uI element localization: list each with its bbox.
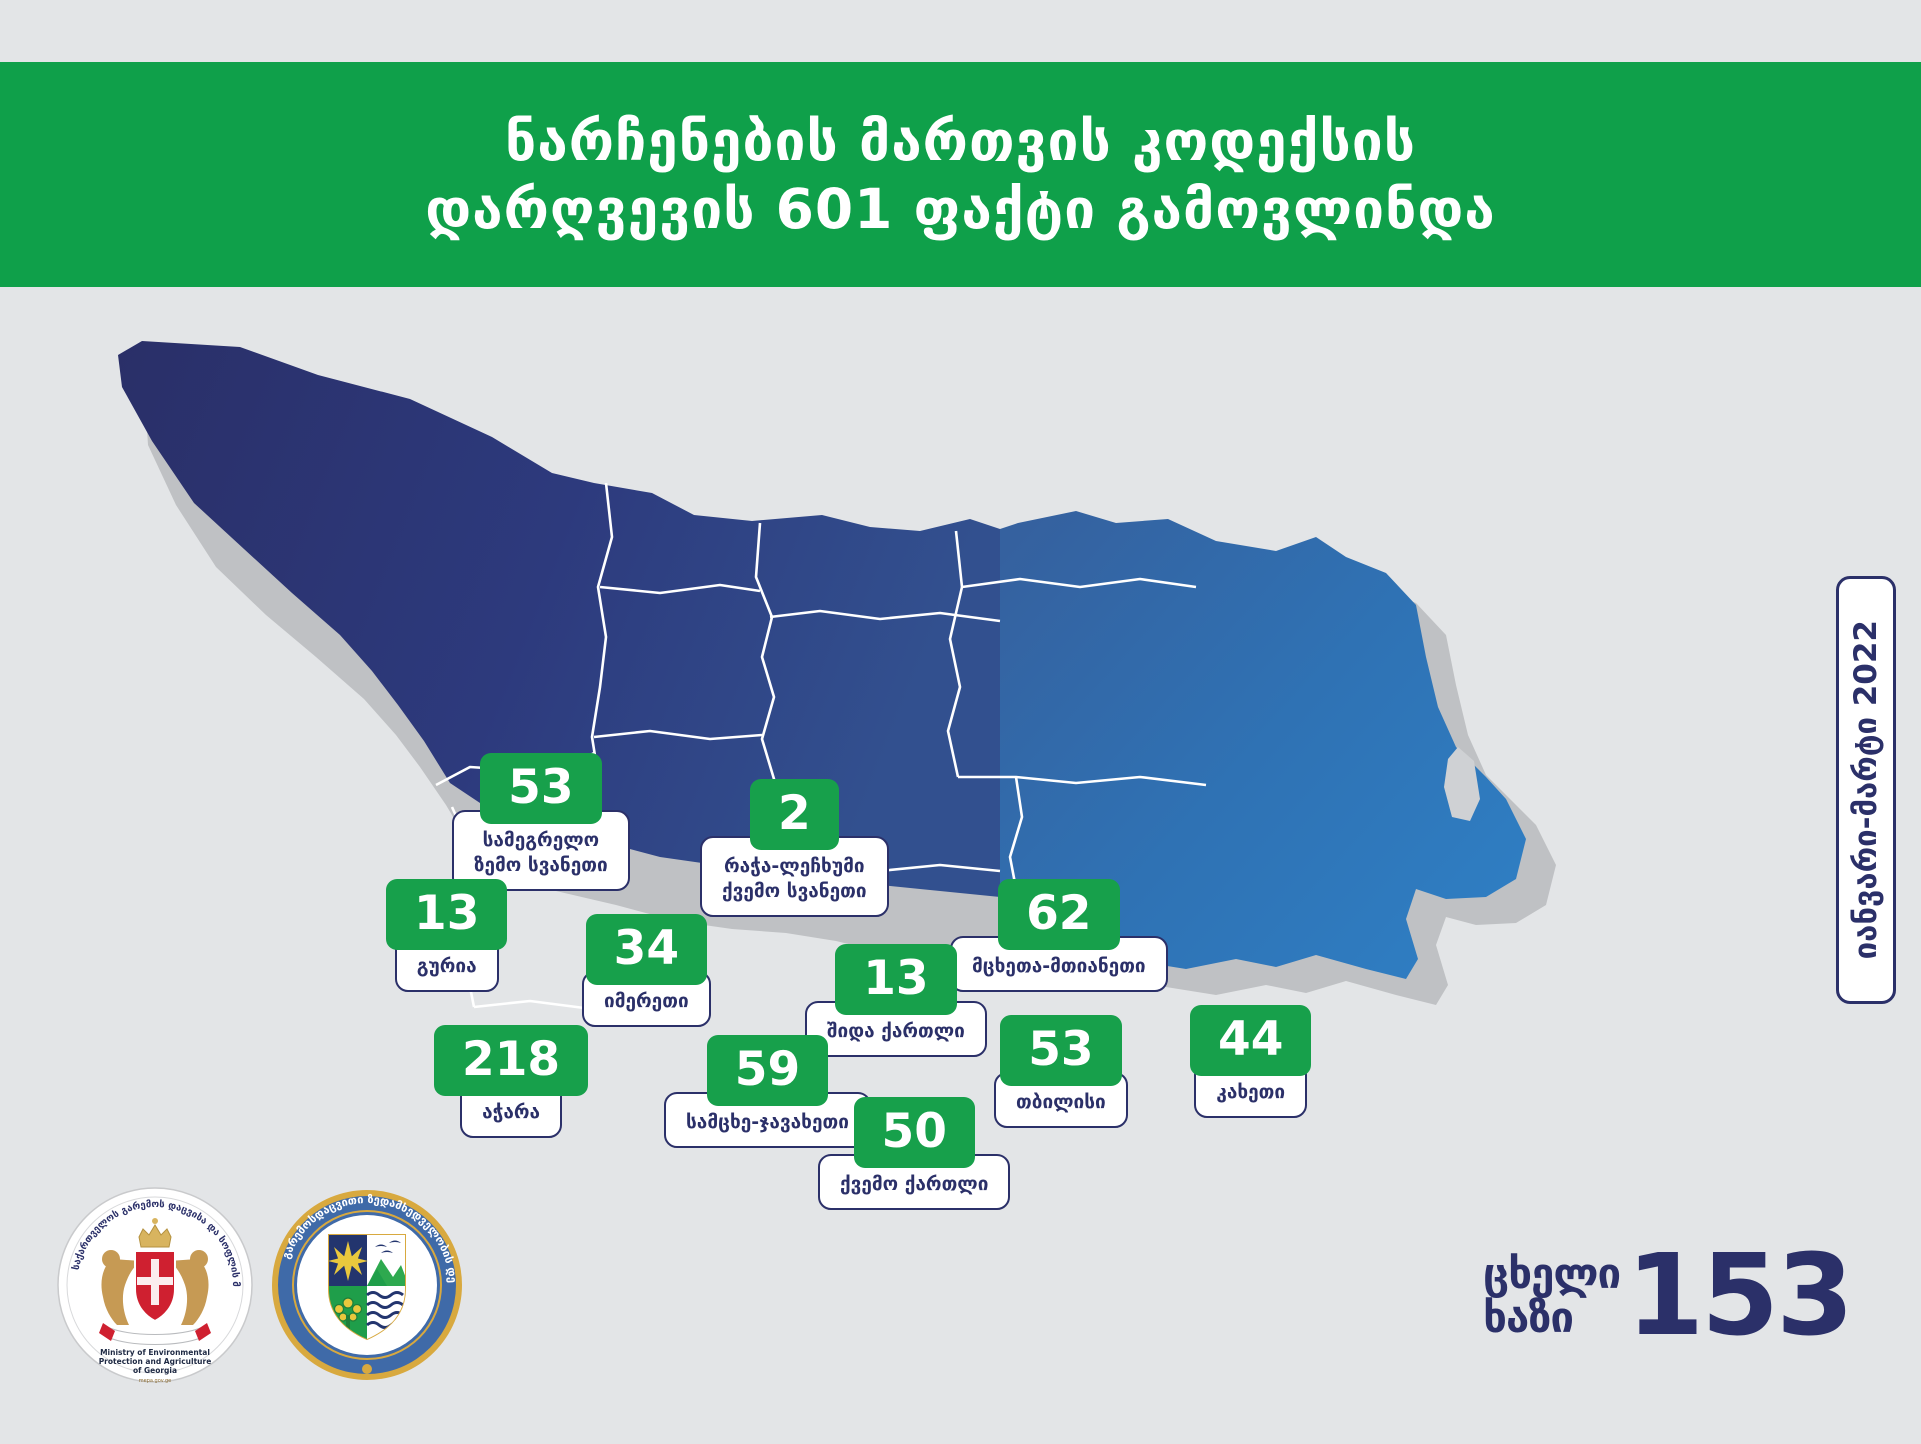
region-count: 218 (434, 1025, 588, 1096)
period-badge-text: იანვარი-მარტი 2022 (1848, 620, 1884, 959)
ministry-logo-en-line2: Protection and Agriculture (99, 1357, 212, 1366)
hotline-number: 153 (1626, 1248, 1851, 1344)
hotline-block: ცხელი ხაზი 153 (1483, 1248, 1851, 1344)
region-count: 53 (1000, 1015, 1121, 1086)
region-count: 50 (854, 1097, 975, 1168)
region-count: 62 (998, 879, 1119, 950)
region-count: 13 (386, 879, 507, 950)
ministry-logo-en-line1: Ministry of Environmental (100, 1348, 210, 1357)
map-pin-adjara[interactable]: 218 აჭარა (434, 1025, 588, 1138)
ministry-logo-website: mepa.gov.ge (139, 1378, 171, 1384)
supervision-emblem-icon: გარემოსდაცვითი ზედამხედველობის დეპარტამე… (267, 1185, 467, 1385)
region-count: 13 (835, 944, 956, 1015)
map-pin-imereti[interactable]: 34 იმერეთი (582, 914, 711, 1027)
map-pin-racha-lechkhumi-kvemo-svaneti[interactable]: 2 რაჭა-ლეჩხუმი ქვემო სვანეთი (700, 779, 889, 917)
map-pin-tbilisi[interactable]: 53 თბილისი (994, 1015, 1128, 1128)
logo-row: Ministry of Environmental Protection and… (55, 1185, 467, 1385)
page-title-line-1: ნარჩენების მართვის კოდექსის (505, 107, 1416, 175)
ministry-logo-en-line3: of Georgia (133, 1366, 177, 1375)
ministry-emblem-icon: Ministry of Environmental Protection and… (55, 1185, 255, 1385)
region-count: 53 (480, 753, 601, 824)
hotline-label: ცხელი ხაზი (1483, 1252, 1620, 1340)
region-count: 59 (707, 1035, 828, 1106)
map-pin-kvemo-kartli[interactable]: 50 ქვემო ქართლი (818, 1097, 1010, 1210)
ministry-logo: Ministry of Environmental Protection and… (55, 1185, 255, 1385)
map-pin-kakheti[interactable]: 44 კახეთი (1190, 1005, 1311, 1118)
region-count: 2 (750, 779, 839, 850)
region-count: 34 (586, 914, 707, 985)
header-banner: ნარჩენების მართვის კოდექსის დარღვევის 60… (0, 62, 1921, 287)
page-title-line-2: დარღვევის 601 ფაქტი გამოვლინდა (425, 175, 1496, 243)
region-count: 44 (1190, 1005, 1311, 1076)
map-pin-samegrelo-zemo-svaneti[interactable]: 53 სამეგრელო ზემო სვანეთი (452, 753, 630, 891)
period-badge: იანვარი-მარტი 2022 (1836, 576, 1896, 1004)
supervision-department-logo: გარემოსდაცვითი ზედამხედველობის დეპარტამე… (267, 1185, 467, 1385)
map-pin-guria[interactable]: 13 გურია (386, 879, 507, 992)
